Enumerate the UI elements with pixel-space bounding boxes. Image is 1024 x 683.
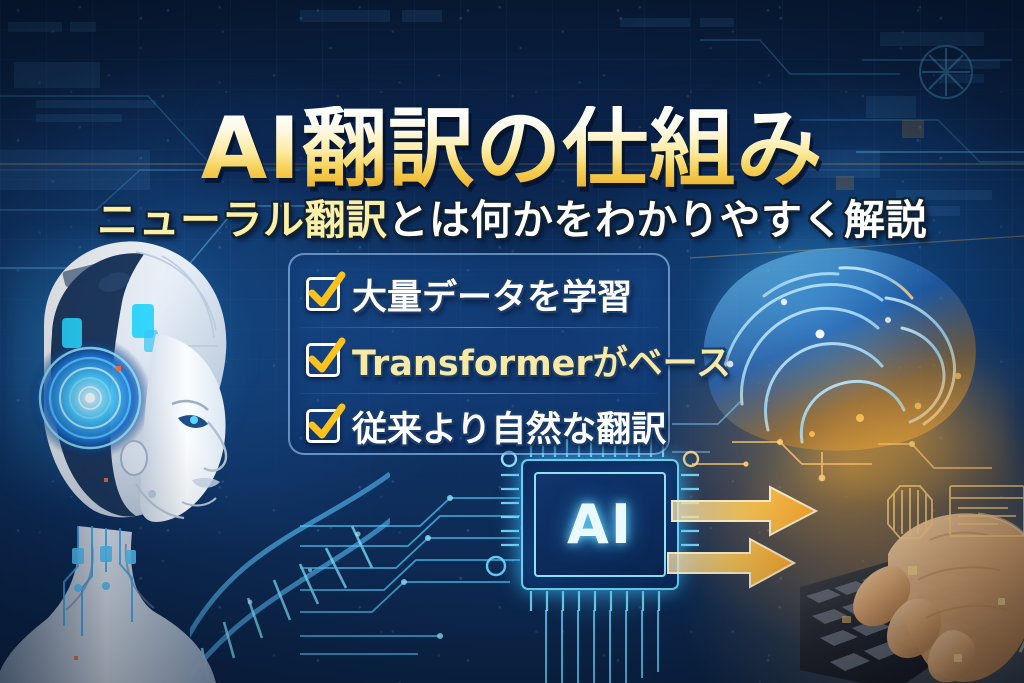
checklist-item-label: 従来より自然な翻訳	[352, 401, 666, 452]
banner-canvas: AI	[0, 0, 1024, 683]
checklist-item: 従来より自然な翻訳	[290, 393, 668, 459]
checkbox-checked-icon	[306, 343, 340, 377]
checklist-item: 大量データを学習	[290, 261, 668, 327]
page-title: AI翻訳の仕組み	[0, 106, 1024, 192]
checklist-item-label: 大量データを学習	[352, 269, 632, 320]
checkbox-checked-icon	[306, 409, 340, 443]
feature-checklist-panel: 大量データを学習 Transformerがベース 従来より自然な翻訳	[288, 253, 670, 455]
subtitle-main: とは何かをわかりやすく解説	[388, 196, 928, 244]
page-subtitle: ニューラル翻訳とは何かをわかりやすく解説	[0, 186, 1024, 246]
checkbox-checked-icon	[306, 277, 340, 311]
subtitle-accent: ニューラル翻訳	[97, 196, 388, 244]
checklist-item-label: Transformerがベース	[352, 335, 731, 386]
checklist-item: Transformerがベース	[290, 327, 668, 393]
